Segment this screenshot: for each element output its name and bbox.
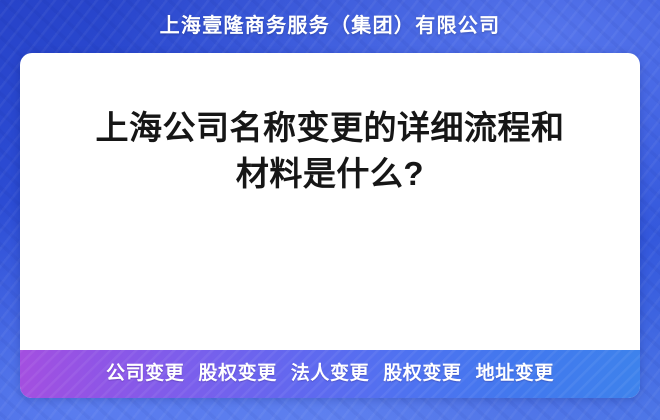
tag-strip: 公司变更 股权变更 法人变更 股权变更 地址变更 bbox=[20, 350, 640, 398]
content-card: 上海公司名称变更的详细流程和 材料是什么? 公司变更 股权变更 法人变更 股权变… bbox=[20, 53, 640, 398]
tag-address-change[interactable]: 地址变更 bbox=[476, 363, 554, 385]
tag-equity-change[interactable]: 股权变更 bbox=[198, 363, 276, 385]
tag-legal-rep-change[interactable]: 法人变更 bbox=[291, 363, 369, 385]
company-name-text: 上海壹隆商务服务（集团）有限公司 bbox=[160, 14, 501, 38]
company-header: 上海壹隆商务服务（集团）有限公司 bbox=[0, 14, 660, 38]
tag-company-change[interactable]: 公司变更 bbox=[106, 363, 184, 385]
headline-line-2: 材料是什么? bbox=[60, 151, 600, 197]
headline-block: 上海公司名称变更的详细流程和 材料是什么? bbox=[20, 53, 640, 350]
tag-equity-change-2[interactable]: 股权变更 bbox=[383, 363, 461, 385]
headline-line-1: 上海公司名称变更的详细流程和 bbox=[60, 105, 600, 151]
